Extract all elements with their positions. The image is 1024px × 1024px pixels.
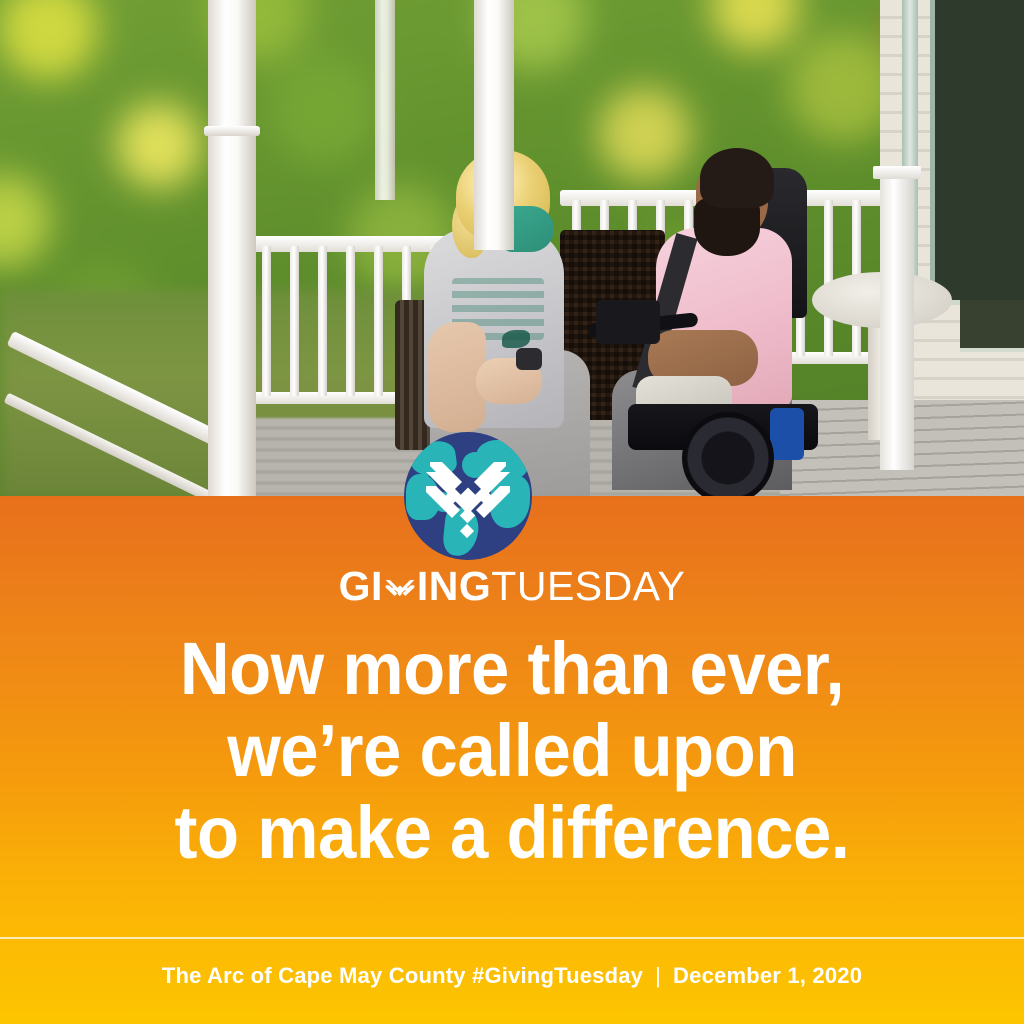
footer-credit: The Arc of Cape May County #GivingTuesda… [0,963,1024,989]
footer-separator: | [643,963,673,989]
headline-line-3: to make a difference. [36,792,988,874]
footer-organization: The Arc of Cape May County #GivingTuesda… [162,963,643,988]
footer-date: December 1, 2020 [673,963,862,988]
headline-line-1: Now more than ever, [36,628,988,710]
porch-column-center [474,0,514,250]
screened-window-lower [960,300,1024,352]
person-beard-hair [700,148,774,208]
baluster [262,246,271,396]
footer-divider [0,937,1024,939]
headline-line-2: we’re called upon [36,710,988,792]
porch-column-ring [204,126,260,136]
porch-column-left [208,0,256,500]
baluster [374,246,383,396]
porch-column-small [375,0,395,200]
baluster [346,246,355,396]
wheelchair-controller [596,300,660,344]
porch-post-right [880,170,914,470]
wheelchair-blue-panel [770,408,804,460]
giving-tuesday-wordmark: GIINGTUESDAY [0,566,1024,607]
screened-window [930,0,1024,305]
headline: Now more than ever, we’re called upon to… [36,628,988,874]
baluster [290,246,299,396]
wristwatch [516,348,542,370]
baluster [318,246,327,396]
porch-post-cap [873,166,921,179]
baluster [824,200,833,356]
eagles-logo-graphic [502,330,530,348]
heart-hands-icon [404,432,532,560]
heart-hands-glyph-icon [383,571,417,605]
wordmark-tuesday: TUESDAY [491,563,685,609]
hero-photo [0,0,1024,500]
wordmark-giving-prefix: GI [339,563,383,609]
giving-tuesday-poster: GIINGTUESDAY Now more than ever, we’re c… [0,0,1024,1024]
wordmark-giving-suffix: ING [417,563,491,609]
wheelchair-wheel [682,412,774,500]
